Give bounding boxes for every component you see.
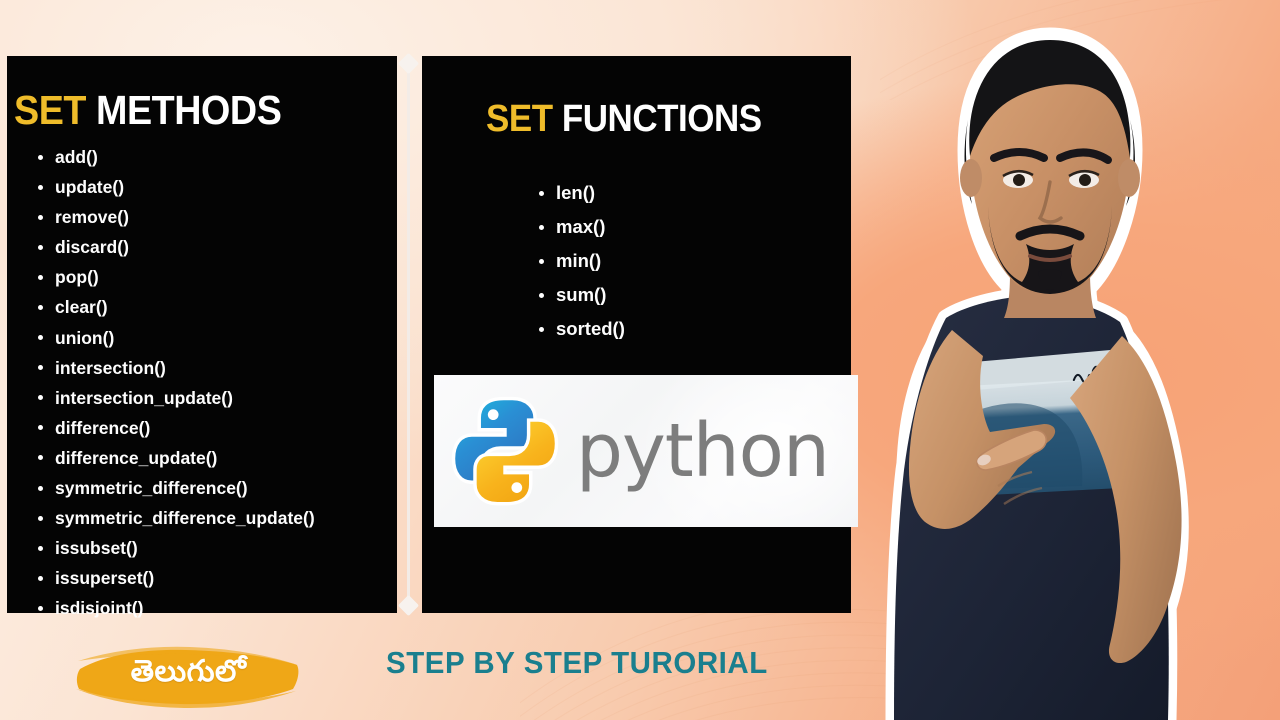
list-item: difference_update() bbox=[34, 443, 315, 473]
divider-diamond-bottom-icon bbox=[398, 595, 419, 616]
list-item: symmetric_difference() bbox=[34, 473, 315, 503]
heading-keyword: SET bbox=[14, 87, 86, 133]
list-item: max() bbox=[535, 210, 625, 244]
set-functions-list: len() max() min() sum() sorted() bbox=[535, 176, 625, 346]
list-item: symmetric_difference_update() bbox=[34, 503, 315, 533]
presenter-photo bbox=[838, 0, 1280, 720]
python-wordmark: python bbox=[576, 414, 829, 488]
list-item: issuperset() bbox=[34, 563, 315, 593]
set-methods-heading: SET METHODS bbox=[14, 90, 281, 131]
list-item: union() bbox=[34, 323, 315, 353]
list-item: clear() bbox=[34, 292, 315, 322]
list-item: intersection() bbox=[34, 353, 315, 383]
list-item: sorted() bbox=[535, 312, 625, 346]
list-item: isdisjoint() bbox=[34, 593, 315, 623]
list-item: min() bbox=[535, 244, 625, 278]
tagline-text: STEP BY STEP TURORIAL bbox=[386, 645, 768, 681]
telugu-brush-badge: తెలుగులో bbox=[74, 643, 303, 711]
list-item: pop() bbox=[34, 262, 315, 292]
list-item: sum() bbox=[535, 278, 625, 312]
python-logo-icon bbox=[446, 390, 564, 513]
divider-diamond-top-icon bbox=[398, 53, 419, 74]
list-item: intersection_update() bbox=[34, 383, 315, 413]
heading-keyword: SET bbox=[486, 98, 553, 140]
python-logo-card: python bbox=[434, 375, 858, 527]
set-methods-list: add() update() remove() discard() pop() … bbox=[34, 142, 315, 624]
list-item: issubset() bbox=[34, 533, 315, 563]
list-item: update() bbox=[34, 172, 315, 202]
list-item: difference() bbox=[34, 413, 315, 443]
set-functions-heading: SET FUNCTIONS bbox=[486, 100, 762, 138]
list-item: len() bbox=[535, 176, 625, 210]
list-item: remove() bbox=[34, 202, 315, 232]
heading-rest: METHODS bbox=[96, 87, 281, 133]
slide-background: SET METHODS add() update() remove() disc… bbox=[0, 0, 1280, 720]
telugu-brush-label: తెలుగులో bbox=[74, 643, 303, 711]
panel-divider bbox=[407, 62, 410, 607]
list-item: discard() bbox=[34, 232, 315, 262]
list-item: add() bbox=[34, 142, 315, 172]
heading-rest: FUNCTIONS bbox=[562, 98, 762, 140]
